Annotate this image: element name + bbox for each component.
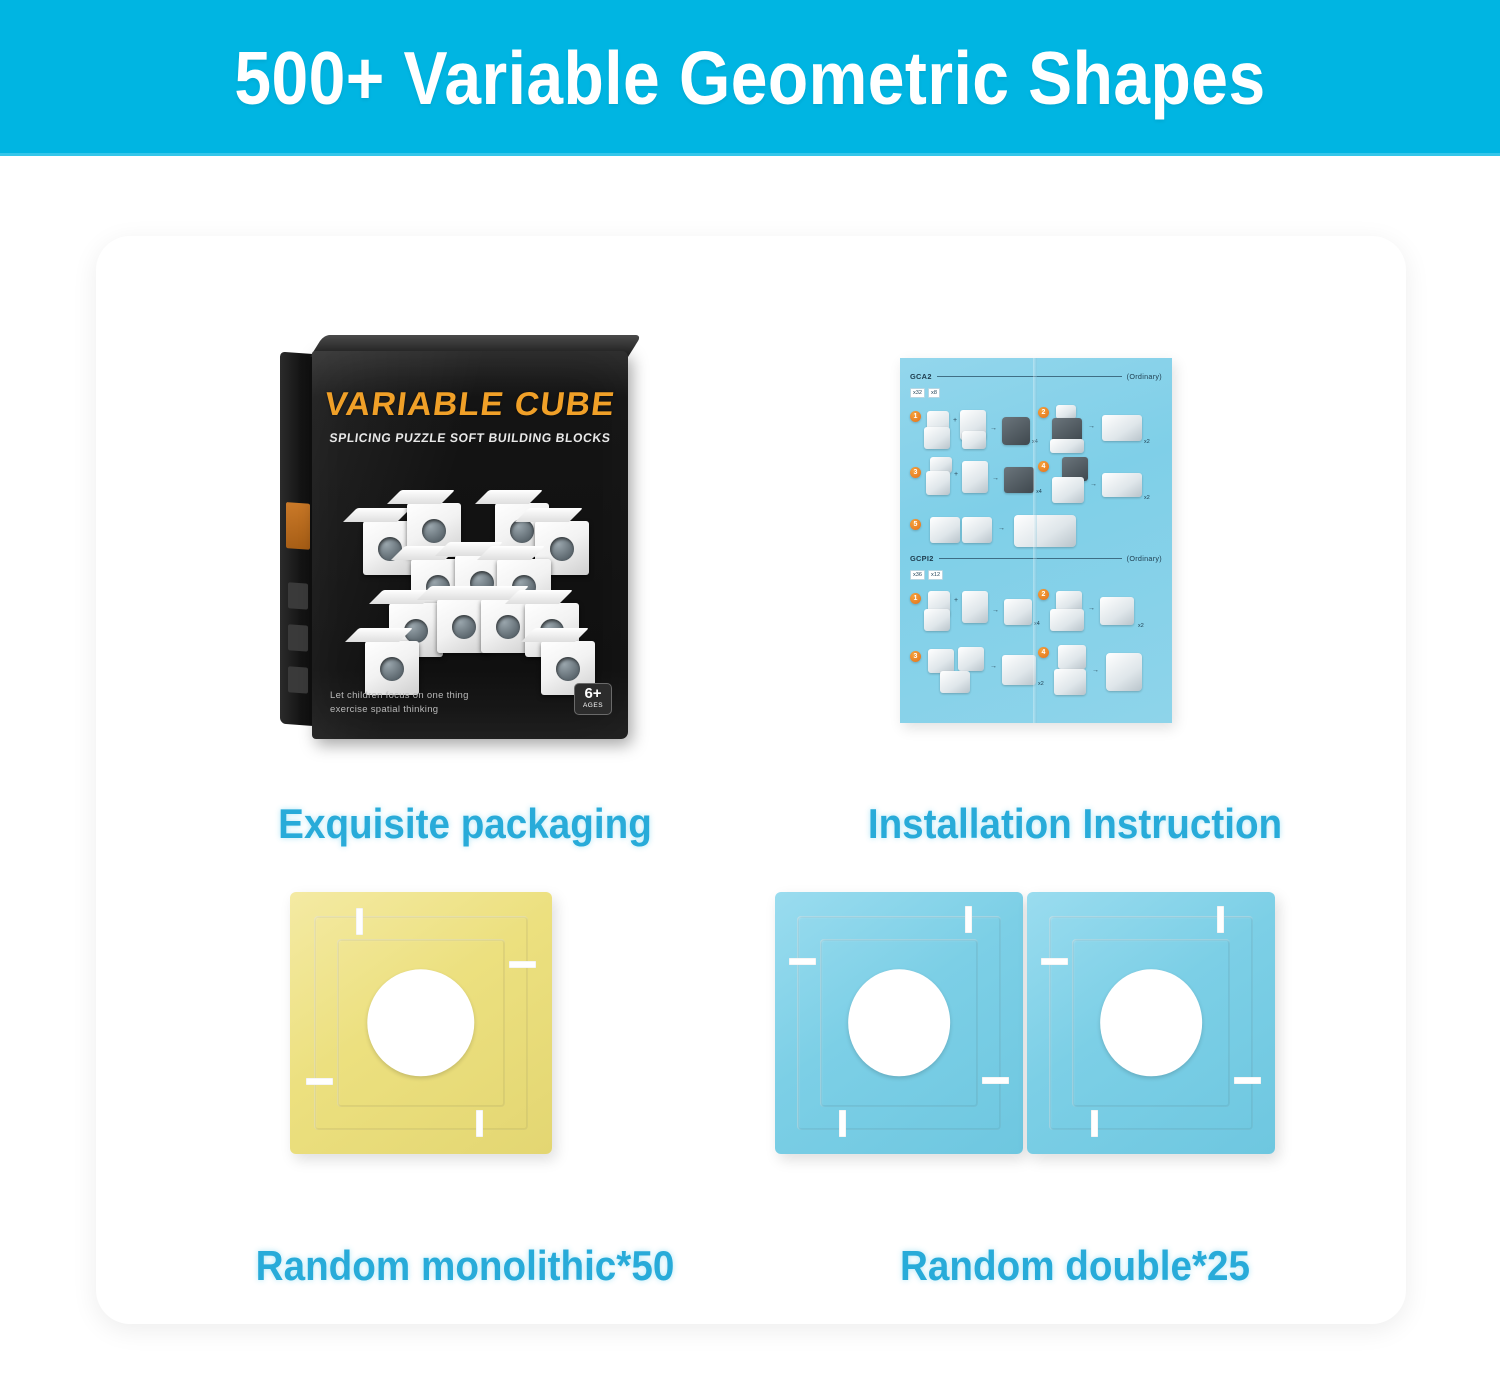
- step-number: 2: [1038, 589, 1049, 600]
- step-quantity: x2: [1144, 495, 1150, 501]
- step-result-part: [1102, 415, 1142, 441]
- step-marker: 2: [1038, 589, 1049, 600]
- tile-slot-left: [789, 958, 816, 965]
- part-count: x32: [910, 388, 925, 398]
- step-diagram-part: [928, 649, 954, 673]
- step-result-part: [1004, 467, 1034, 493]
- step-diagram-part: [926, 471, 950, 495]
- step-diagram-part: [962, 517, 992, 543]
- step-diagram-part: [924, 609, 950, 631]
- arrow-icon: →: [990, 425, 997, 432]
- section-code: GCA2: [910, 372, 932, 381]
- spine-mark-3: [288, 666, 308, 693]
- tile-slot-right: [509, 961, 536, 968]
- part-count-badges-gca2: x32 x8: [910, 388, 940, 398]
- step-result-part: [1100, 597, 1134, 625]
- arrow-icon: →: [1090, 481, 1097, 488]
- header-banner: 500+ Variable Geometric Shapes: [0, 0, 1500, 156]
- step-diagram-part: [1058, 645, 1086, 669]
- tile-slot-bottom: [476, 1110, 483, 1137]
- step-quantity: x2: [1138, 623, 1144, 629]
- step-number: 4: [1038, 647, 1049, 658]
- part-count: x12: [928, 570, 943, 580]
- caption-random-monolithic: Random monolithic*50: [175, 1242, 755, 1290]
- blue-tile-right-panel: [1027, 892, 1275, 1154]
- step-diagram-part: [962, 461, 988, 493]
- arrow-icon: →: [992, 607, 999, 614]
- step-result-part: [1014, 515, 1076, 547]
- spine-mark-2: [288, 624, 308, 651]
- tile-slot-right: [982, 1077, 1009, 1084]
- feature-cell-random-double: Random double*25: [760, 870, 1390, 1300]
- tile-slot-top: [1217, 906, 1224, 933]
- feature-cell-installation-instruction: GCA2 (Ordinary) x32 x8 1 + → x4: [760, 300, 1390, 860]
- tile-slot-right: [1234, 1077, 1261, 1084]
- step-marker: 2: [1038, 407, 1049, 418]
- step-marker: 3: [910, 651, 921, 662]
- step-diagram-part: [962, 431, 986, 449]
- instruction-section-gcpi2: GCPI2 (Ordinary) x36 x12 1 + → x4: [910, 554, 1162, 723]
- caption-exquisite-packaging: Exquisite packaging: [175, 800, 755, 848]
- blue-double-block-tile: [775, 892, 1275, 1154]
- step-marker: 3: [910, 467, 921, 478]
- step-result-part: [1002, 655, 1036, 685]
- tile-slot-top: [356, 908, 363, 935]
- step-diagram-part: [924, 427, 950, 449]
- steps-gcpi2: 1 + → x4 2 → x2 3: [910, 587, 1162, 723]
- step-diagram-part: [1054, 669, 1086, 695]
- age-rating-badge: 6+ AGES: [574, 683, 612, 715]
- arrow-icon: →: [1088, 605, 1095, 612]
- step-diagram-part: [1050, 439, 1084, 453]
- section-header-gcpi2: GCPI2 (Ordinary): [910, 554, 1162, 563]
- section-mode: (Ordinary): [1127, 372, 1162, 381]
- tile-center-hole: [367, 969, 474, 1076]
- caption-random-double: Random double*25: [785, 1242, 1365, 1290]
- tile-slot-top: [965, 906, 972, 933]
- step-diagram-part: [1050, 609, 1084, 631]
- step-number: 3: [910, 467, 921, 478]
- step-diagram-part: [1056, 405, 1076, 419]
- spine-mark-1: [288, 582, 308, 609]
- box-brand-name: VARIABLE CUBE: [312, 385, 628, 423]
- spine-orange-band: [286, 502, 310, 550]
- arrow-icon: +: [953, 417, 957, 424]
- section-mode: (Ordinary): [1127, 554, 1162, 563]
- feature-cell-random-monolithic: Random monolithic*50: [150, 870, 780, 1300]
- tile-slot-left: [1041, 958, 1068, 965]
- instruction-section-gca2: GCA2 (Ordinary) x32 x8 1 + → x4: [910, 372, 1162, 560]
- step-quantity: x4: [1036, 489, 1042, 495]
- section-header-gca2: GCA2 (Ordinary): [910, 372, 1162, 381]
- step-quantity: x2: [1038, 681, 1044, 687]
- box-subtitle: SPLICING PUZZLE SOFT BUILDING BLOCKS: [316, 431, 624, 445]
- part-count: x36: [910, 570, 925, 580]
- product-box-front-face: VARIABLE CUBE SPLICING PUZZLE SOFT BUILD…: [312, 351, 628, 739]
- arrow-icon: →: [992, 475, 999, 482]
- part-count-badges-gcpi2: x36 x12: [910, 570, 943, 580]
- step-diagram-part: [1056, 591, 1082, 611]
- arrow-icon: →: [1088, 423, 1095, 430]
- step-result-part: [1102, 473, 1142, 497]
- box-tagline-line-1: Let children focus on one thing: [330, 689, 469, 703]
- arrow-icon: +: [954, 471, 958, 478]
- step-number: 1: [910, 593, 921, 604]
- arrow-icon: →: [998, 525, 1005, 532]
- cube: [365, 641, 419, 695]
- age-rating-number: 6+: [575, 686, 611, 702]
- box-tagline-line-2: exercise spatial thinking: [330, 703, 469, 717]
- box-tagline: Let children focus on one thing exercise…: [330, 689, 469, 717]
- step-diagram-part: [958, 647, 984, 671]
- step-diagram-part: [1052, 477, 1084, 503]
- part-count: x8: [928, 388, 940, 398]
- tile-slot-left: [306, 1078, 333, 1085]
- step-number: 4: [1038, 461, 1049, 472]
- blue-tile-left-panel: [775, 892, 1023, 1154]
- page-title: 500+ Variable Geometric Shapes: [234, 35, 1265, 121]
- arrow-icon: →: [990, 663, 997, 670]
- step-quantity: x4: [1034, 621, 1040, 627]
- tile-slot-bottom: [839, 1110, 846, 1137]
- step-result-part: [1002, 417, 1030, 445]
- step-marker: 4: [1038, 461, 1049, 472]
- feature-cell-exquisite-packaging: VARIABLE CUBE SPLICING PUZZLE SOFT BUILD…: [150, 300, 780, 860]
- cube-cluster-artwork: [345, 499, 595, 699]
- step-number: 5: [910, 519, 921, 530]
- step-number: 1: [910, 411, 921, 422]
- section-rule-line: [939, 558, 1122, 559]
- section-rule-line: [937, 376, 1122, 377]
- step-marker: 5: [910, 519, 921, 530]
- age-rating-label: AGES: [575, 702, 611, 709]
- arrow-icon: →: [1092, 667, 1099, 674]
- step-result-part: [1106, 653, 1142, 691]
- step-diagram-part: [962, 591, 988, 623]
- step-diagram-part: [940, 671, 970, 693]
- tile-slot-bottom: [1091, 1110, 1098, 1137]
- step-marker: 1: [910, 593, 921, 604]
- yellow-block-tile: [290, 892, 552, 1154]
- step-result-part: [1004, 599, 1032, 625]
- step-quantity: x2: [1144, 439, 1150, 445]
- tile-center-hole: [1100, 969, 1202, 1076]
- caption-installation-instruction: Installation Instruction: [785, 800, 1365, 848]
- steps-gca2: 1 + → x4 2 → x2: [910, 405, 1162, 560]
- product-box-image: VARIABLE CUBE SPLICING PUZZLE SOFT BUILD…: [280, 335, 630, 735]
- tile-center-hole: [848, 969, 950, 1076]
- instruction-sheet-image: GCA2 (Ordinary) x32 x8 1 + → x4: [900, 358, 1172, 723]
- step-quantity: x4: [1032, 439, 1038, 445]
- section-code: GCPI2: [910, 554, 934, 563]
- step-marker: 4: [1038, 647, 1049, 658]
- step-diagram-part: [930, 517, 960, 543]
- step-marker: 1: [910, 411, 921, 422]
- arrow-icon: +: [954, 597, 958, 604]
- step-number: 3: [910, 651, 921, 662]
- step-number: 2: [1038, 407, 1049, 418]
